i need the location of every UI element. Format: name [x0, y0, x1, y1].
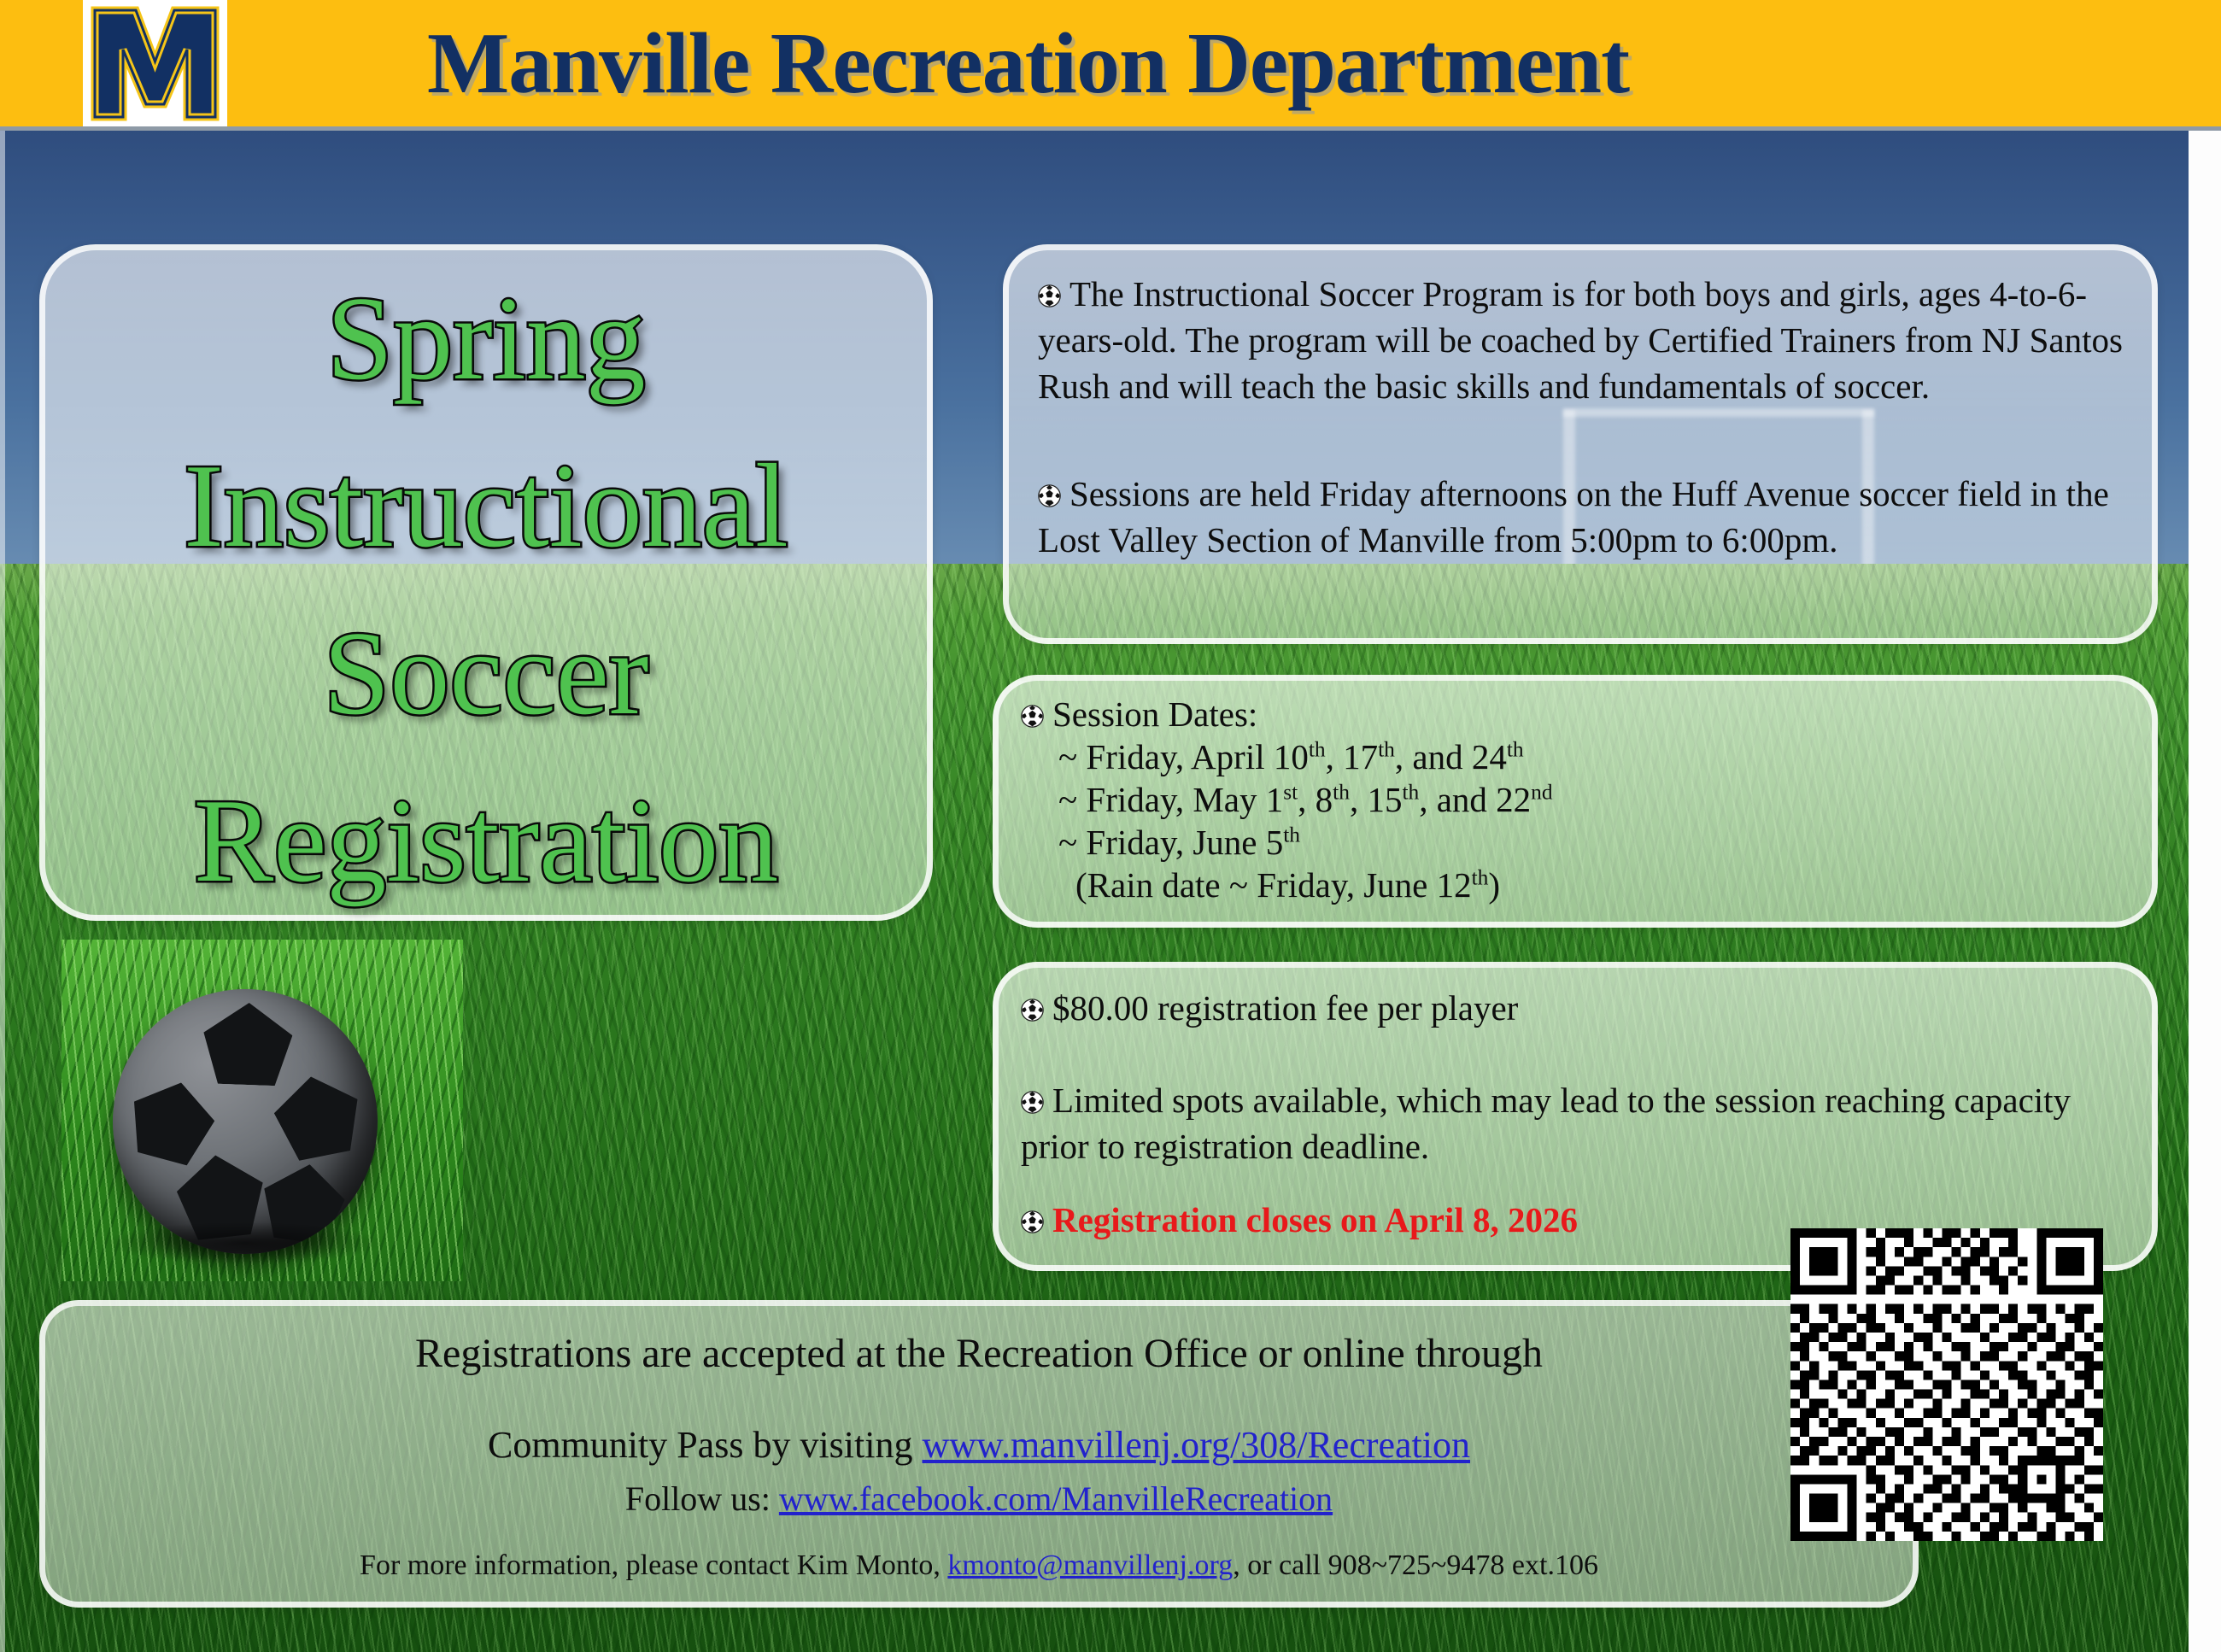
date-3-sup-1: th [1283, 823, 1300, 847]
date-2-sup-4: nd [1531, 780, 1552, 804]
manville-m-logo-icon [83, 0, 227, 127]
session-dates-panel: Session Dates: ~ Friday, April 10th, 17t… [993, 675, 2158, 928]
fee-text: $80.00 registration fee per player [1052, 988, 1518, 1028]
left-edge-strip [0, 130, 5, 1652]
rain-date-suffix: ) [1488, 865, 1500, 905]
footer-registration-line-1: Registrations are accepted at the Recrea… [45, 1327, 1913, 1381]
soccer-ball-bullet-icon [1021, 999, 1044, 1022]
date-2-sup-1: st [1283, 780, 1298, 804]
ball-panel-2 [113, 1067, 222, 1178]
ball-panel-1 [202, 1001, 293, 1087]
poster-title-text: Spring Instructional Soccer Registration [45, 255, 927, 925]
fee-line: $80.00 registration fee per player [1021, 985, 2131, 1031]
date-2-tail: , and 22 [1419, 780, 1531, 819]
date-2-sup-2: th [1333, 780, 1350, 804]
date-1-mid-2: , and 24 [1395, 737, 1507, 776]
program-description-text-1: The Instructional Soccer Program is for … [1038, 274, 2123, 406]
soccer-ball-bullet-icon [1021, 705, 1044, 728]
qr-code-icon[interactable] [1790, 1228, 2103, 1541]
title-line-3: Soccer [45, 590, 927, 758]
session-date-line-1: ~ Friday, April 10th, 17th, and 24th [1021, 735, 2131, 778]
limited-spots-line: Limited spots available, which may lead … [1021, 1077, 2131, 1169]
footer-contact-line: For more information, please contact Kim… [45, 1547, 1913, 1585]
soccer-ball-bullet-icon [1021, 1091, 1044, 1114]
rain-date-prefix: (Rain date ~ Friday, June 12 [1075, 865, 1472, 905]
soccer-ball-graphic [113, 989, 378, 1254]
session-dates-content: Session Dates: ~ Friday, April 10th, 17t… [1021, 693, 2131, 906]
soccer-ball-photo [62, 940, 463, 1281]
footer-registration-line-2: Community Pass by visiting www.manvillen… [45, 1421, 1913, 1470]
date-2-mid-2: , 15 [1350, 780, 1403, 819]
right-edge-strip [2189, 130, 2221, 1652]
follow-us-label: Follow us: [625, 1479, 779, 1518]
manville-logo [83, 0, 227, 127]
program-description-paragraph-2: Sessions are held Friday afternoons on t… [1038, 471, 2148, 563]
session-date-line-3: ~ Friday, June 5th [1021, 821, 2131, 864]
ball-drop-shadow [103, 1221, 384, 1264]
registration-qr-code[interactable] [1790, 1228, 2103, 1541]
fees-and-deadline-panel: $80.00 registration fee per player Limit… [993, 962, 2158, 1271]
facebook-link[interactable]: www.facebook.com/ManvilleRecreation [779, 1479, 1333, 1518]
date-1-sup-3: th [1507, 737, 1524, 761]
date-2-mid-1: , 8 [1298, 780, 1333, 819]
soccer-ball-bullet-icon [1038, 284, 1061, 308]
date-2-prefix: ~ Friday, May 1 [1058, 780, 1283, 819]
date-1-sup-1: th [1309, 737, 1326, 761]
website-link[interactable]: www.manvillenj.org/308/Recreation [922, 1424, 1470, 1466]
ball-panel-3 [267, 1063, 377, 1175]
soccer-ball-bullet-icon [1021, 1210, 1044, 1233]
limited-spots-text: Limited spots available, which may lead … [1021, 1081, 2071, 1166]
title-line-1: Spring [45, 255, 927, 423]
title-line-4: Registration [45, 758, 927, 925]
contact-prefix-text: For more information, please contact Kim… [360, 1549, 947, 1581]
registration-deadline-text: Registration closes on April 8, 2026 [1052, 1200, 1578, 1239]
header-bar: Manville Recreation Department [0, 0, 2221, 130]
program-description-text-2: Sessions are held Friday afternoons on t… [1038, 474, 2109, 559]
rain-date-line: (Rain date ~ Friday, June 12th) [1021, 864, 2131, 906]
title-line-2: Instructional [45, 423, 927, 590]
email-link[interactable]: kmonto@manvillenj.org [947, 1549, 1233, 1581]
session-date-line-2: ~ Friday, May 1st, 8th, 15th, and 22nd [1021, 778, 2131, 821]
poster-title-panel: Spring Instructional Soccer Registration [39, 244, 933, 921]
registration-footer-panel: Registrations are accepted at the Recrea… [39, 1300, 1919, 1608]
poster-canvas: Manville Recreation Department Spring In… [0, 0, 2221, 1652]
date-3-prefix: ~ Friday, June 5 [1058, 823, 1283, 862]
contact-suffix-text: , or call 908~725~9478 ext.106 [1233, 1549, 1598, 1581]
date-1-mid-1: , 17 [1326, 737, 1379, 776]
session-dates-heading: Session Dates: [1052, 694, 1257, 734]
page-title: Manville Recreation Department [427, 16, 1879, 112]
date-2-sup-3: th [1402, 780, 1419, 804]
rain-date-sup: th [1472, 865, 1489, 889]
footer-community-pass-text: Community Pass by visiting [488, 1424, 923, 1466]
date-1-sup-2: th [1378, 737, 1395, 761]
footer-follow-line: Follow us: www.facebook.com/ManvilleRecr… [45, 1477, 1913, 1521]
date-1-prefix: ~ Friday, April 10 [1058, 737, 1309, 776]
program-description-panel: The Instructional Soccer Program is for … [1003, 244, 2158, 644]
header-divider [0, 126, 2221, 131]
program-description-paragraph-1: The Instructional Soccer Program is for … [1038, 271, 2140, 409]
soccer-ball-bullet-icon [1038, 484, 1061, 507]
